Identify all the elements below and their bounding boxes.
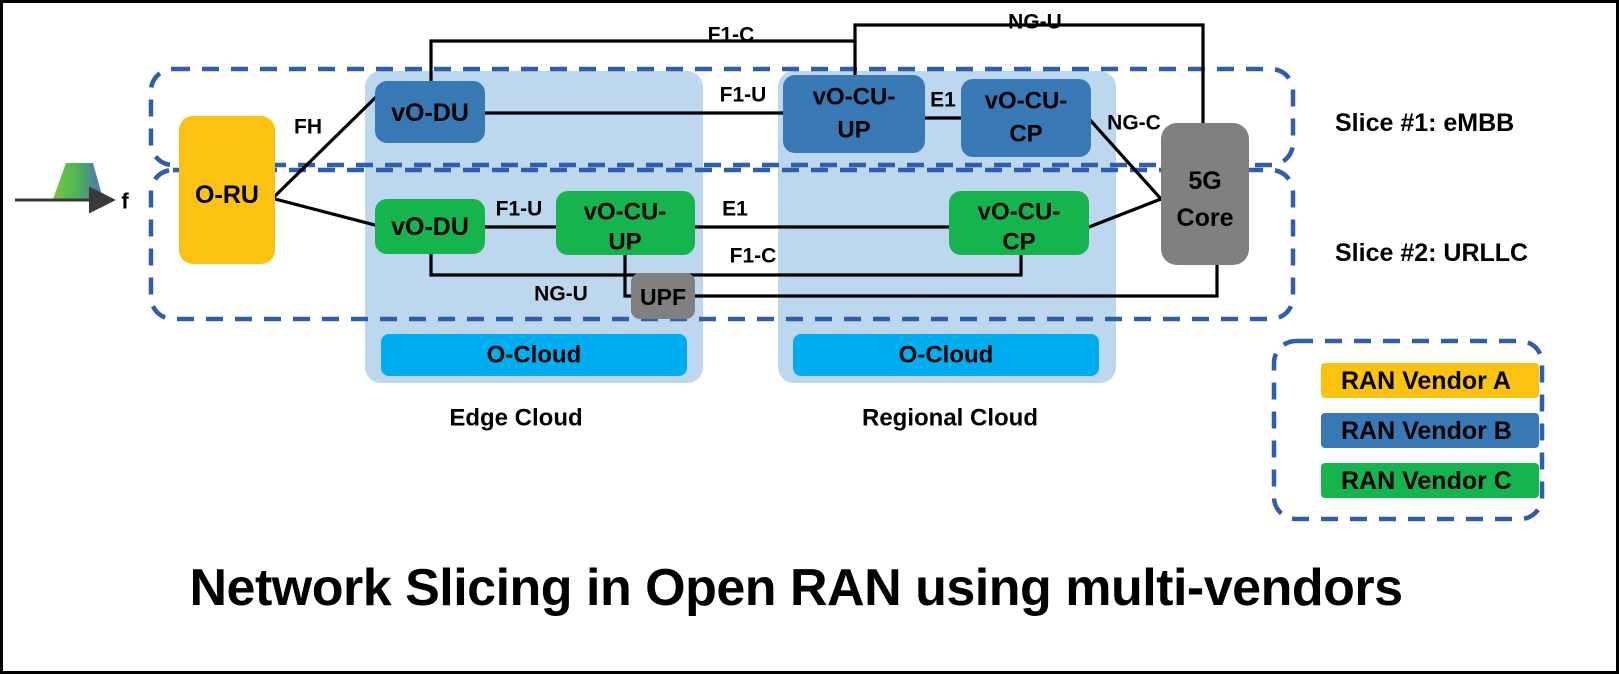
iface-f1c-slice2-label: F1-C (730, 245, 777, 268)
legend-item-vendor-a-label: RAN Vendor A (1341, 367, 1511, 395)
o-cloud-regional[interactable]: O-Cloud (793, 334, 1099, 376)
node-vocucp-slice1-label-2: CP (1009, 121, 1042, 148)
iface-ngc-label: NG-C (1107, 112, 1161, 135)
edge-cloud-caption: Edge Cloud (449, 405, 582, 432)
node-vocuup-slice2[interactable]: vO-CU- UP (556, 191, 695, 256)
node-o-ru-label: O-RU (195, 181, 259, 209)
node-vocucp-slice2-label-1: vO-CU- (978, 199, 1061, 226)
node-5g-core[interactable]: 5G Core (1161, 123, 1249, 265)
iface-f1u-slice2-label: F1-U (496, 198, 543, 221)
node-upf-label: UPF (640, 284, 686, 310)
node-vocucp-slice2-label-2: CP (1002, 229, 1035, 256)
iface-e1-slice1-label: E1 (930, 89, 956, 112)
node-vocuup-slice2-label-2: UP (608, 229, 641, 256)
legend-item-vendor-b[interactable]: RAN Vendor B (1321, 413, 1539, 448)
node-vocuup-slice1[interactable]: vO-CU- UP (783, 75, 925, 153)
slice-1-label: Slice #1: eMBB (1335, 109, 1514, 137)
node-vocuup-slice2-label-1: vO-CU- (584, 199, 667, 226)
spectrum-icon: f (15, 163, 129, 214)
vendor-legend: RAN Vendor A RAN Vendor B RAN Vendor C (1274, 341, 1542, 519)
frequency-axis-label: f (121, 189, 129, 214)
o-cloud-edge[interactable]: O-Cloud (381, 334, 687, 376)
o-cloud-regional-label: O-Cloud (899, 342, 994, 369)
node-vodu-slice1[interactable]: vO-DU (375, 81, 485, 143)
node-vocuup-slice1-label-1: vO-CU- (813, 84, 896, 111)
iface-fh-label: FH (294, 116, 322, 139)
slice-2-label: Slice #2: URLLC (1335, 239, 1528, 267)
iface-f1u-slice1-label: F1-U (720, 84, 767, 107)
network-slicing-diagram: f O-RU (3, 3, 1616, 671)
diagram-canvas: f O-RU (0, 0, 1619, 674)
node-vodu-slice2[interactable]: vO-DU (375, 199, 485, 254)
node-vocucp-slice2[interactable]: vO-CU- CP (949, 191, 1089, 256)
node-vodu-slice1-label: vO-DU (391, 99, 469, 127)
o-cloud-edge-label: O-Cloud (487, 342, 582, 369)
iface-ngu-slice2-label: NG-U (534, 283, 588, 306)
node-o-ru[interactable]: O-RU (179, 116, 275, 264)
node-vocuup-slice1-label-2: UP (837, 117, 870, 144)
legend-item-vendor-c[interactable]: RAN Vendor C (1321, 463, 1539, 498)
iface-e1-slice2-label: E1 (722, 198, 748, 221)
node-5g-core-label-1: 5G (1188, 167, 1221, 195)
legend-item-vendor-b-label: RAN Vendor B (1341, 417, 1512, 445)
iface-ngu-top-label: NG-U (1008, 11, 1062, 34)
regional-cloud-caption: Regional Cloud (862, 405, 1038, 432)
node-vodu-slice2-label: vO-DU (391, 213, 469, 241)
page-title: Network Slicing in Open RAN using multi-… (189, 559, 1402, 617)
node-vocucp-slice1[interactable]: vO-CU- CP (961, 79, 1091, 157)
node-upf[interactable]: UPF (631, 273, 695, 319)
legend-item-vendor-a[interactable]: RAN Vendor A (1321, 363, 1539, 398)
node-5g-core-label-2: Core (1177, 204, 1234, 232)
node-vocucp-slice1-label-1: vO-CU- (985, 88, 1068, 115)
legend-item-vendor-c-label: RAN Vendor C (1341, 467, 1512, 495)
iface-f1c-top-label: F1-C (708, 24, 755, 47)
